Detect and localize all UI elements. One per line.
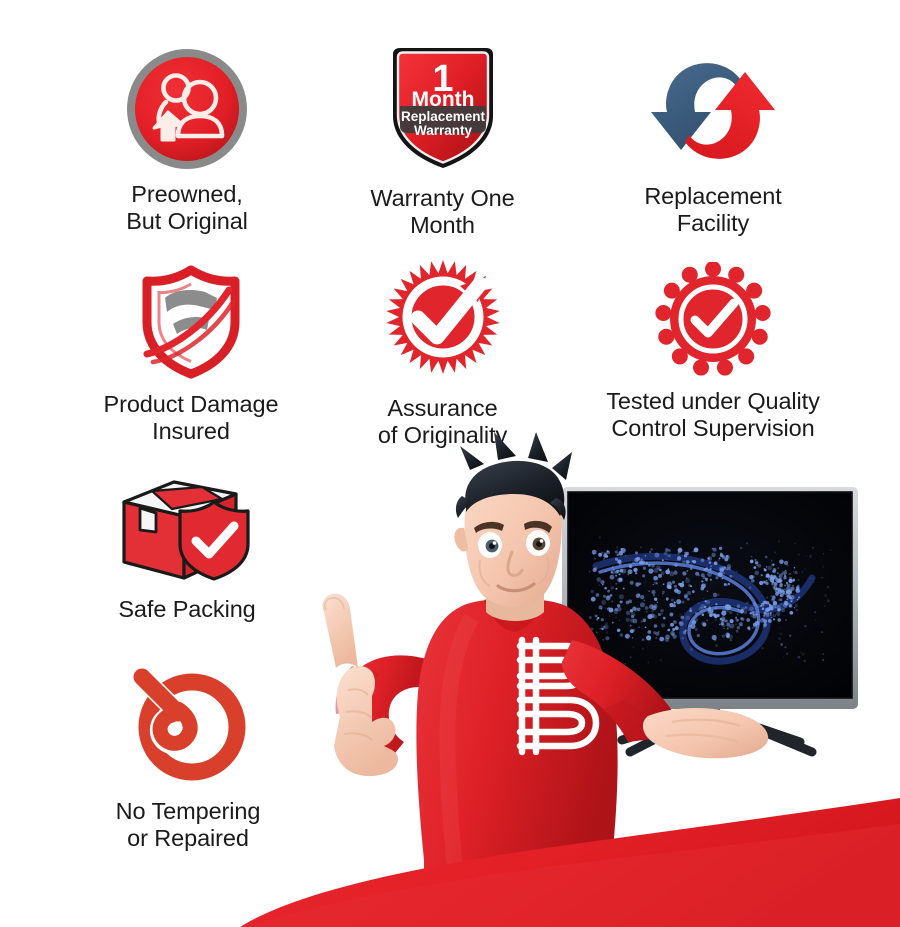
icon-wrap — [588, 50, 838, 172]
mascot-right-cuff — [336, 666, 380, 714]
feature-caption: Tested under Quality Control Supervision — [568, 388, 858, 443]
icon-wrap: 1 Month Replacement Warranty — [330, 44, 555, 172]
mascot-chest-logo — [520, 640, 596, 752]
replacement-arrows-icon — [645, 50, 781, 172]
tv-stand-neck — [698, 700, 720, 716]
badge-line3: Replacement — [400, 109, 485, 124]
mascot-collar — [484, 596, 544, 633]
mascot-neck — [486, 566, 544, 621]
mascot-torso — [416, 599, 617, 927]
damage-shield-icon — [129, 262, 253, 380]
preowned-user-exchange-icon — [124, 46, 250, 172]
icon-wrap — [68, 655, 308, 785]
feature-caption: Assurance of Originality — [335, 395, 550, 450]
screen-particle-swirl — [585, 536, 832, 665]
assurance-check-starburst-icon — [382, 258, 504, 378]
feature-warranty: 1 Month Replacement Warranty Warranty On… — [330, 44, 555, 240]
icon-wrap — [72, 466, 302, 586]
feature-packing: Safe Packing — [72, 466, 302, 623]
badge-line4: Warranty — [413, 123, 472, 138]
package-shield-icon — [112, 466, 262, 586]
mascot-head — [465, 470, 562, 607]
feature-caption: Replacement Facility — [588, 183, 838, 238]
feature-caption: No Tempering or Repaired — [68, 798, 308, 853]
icon-wrap — [568, 262, 858, 376]
feature-caption: Preowned, But Original — [62, 181, 312, 236]
feature-assurance: Assurance of Originality — [335, 258, 550, 450]
mascot-left-arm — [562, 640, 678, 742]
badge-period: Month — [411, 88, 474, 111]
mascot-pointing-hand — [322, 594, 398, 776]
feature-tempering: No Tempering or Repaired — [68, 655, 308, 853]
feature-tested: Tested under Quality Control Supervision — [568, 262, 858, 443]
mascot-right-arm — [341, 655, 430, 774]
feature-caption: Warranty One Month — [330, 185, 555, 240]
tv-screen — [568, 492, 852, 698]
mascot-character — [322, 432, 768, 927]
icon-wrap — [62, 46, 312, 172]
feature-damage: Product Damage Insured — [60, 262, 322, 446]
icon-wrap — [60, 262, 322, 380]
mascot-torso-highlight — [447, 618, 472, 880]
mascot-eyes — [478, 530, 550, 558]
tv-stand-legs — [622, 712, 812, 752]
feature-replacement: Replacement Facility — [588, 50, 838, 238]
feature-preowned: Preowned, But Original — [62, 46, 312, 236]
mascot-eyebrow-right — [524, 521, 552, 533]
mascot-index-finger — [322, 594, 358, 668]
feature-caption: Product Damage Insured — [60, 391, 322, 446]
promo-graphic: Preowned, But Original 1 Month Replacem — [0, 0, 900, 927]
no-wrench-repair-icon — [122, 655, 254, 785]
mascot-eyebrow-left — [474, 522, 504, 533]
mascot-left-cuff — [602, 700, 658, 742]
bottom-red-wave — [240, 798, 900, 927]
mascot-nose — [508, 552, 522, 575]
mascot-open-palm — [643, 708, 768, 758]
icon-wrap — [335, 258, 550, 378]
flat-screen-tv — [562, 487, 858, 752]
quality-check-seal-icon — [655, 262, 771, 376]
feature-caption: Safe Packing — [72, 596, 302, 623]
tv-screen-edge — [568, 492, 852, 698]
mascot-ear — [454, 528, 468, 552]
warranty-shield-badge-icon: 1 Month Replacement Warranty — [385, 44, 501, 172]
mascot-mouth — [498, 584, 534, 591]
tv-bezel — [562, 487, 858, 709]
